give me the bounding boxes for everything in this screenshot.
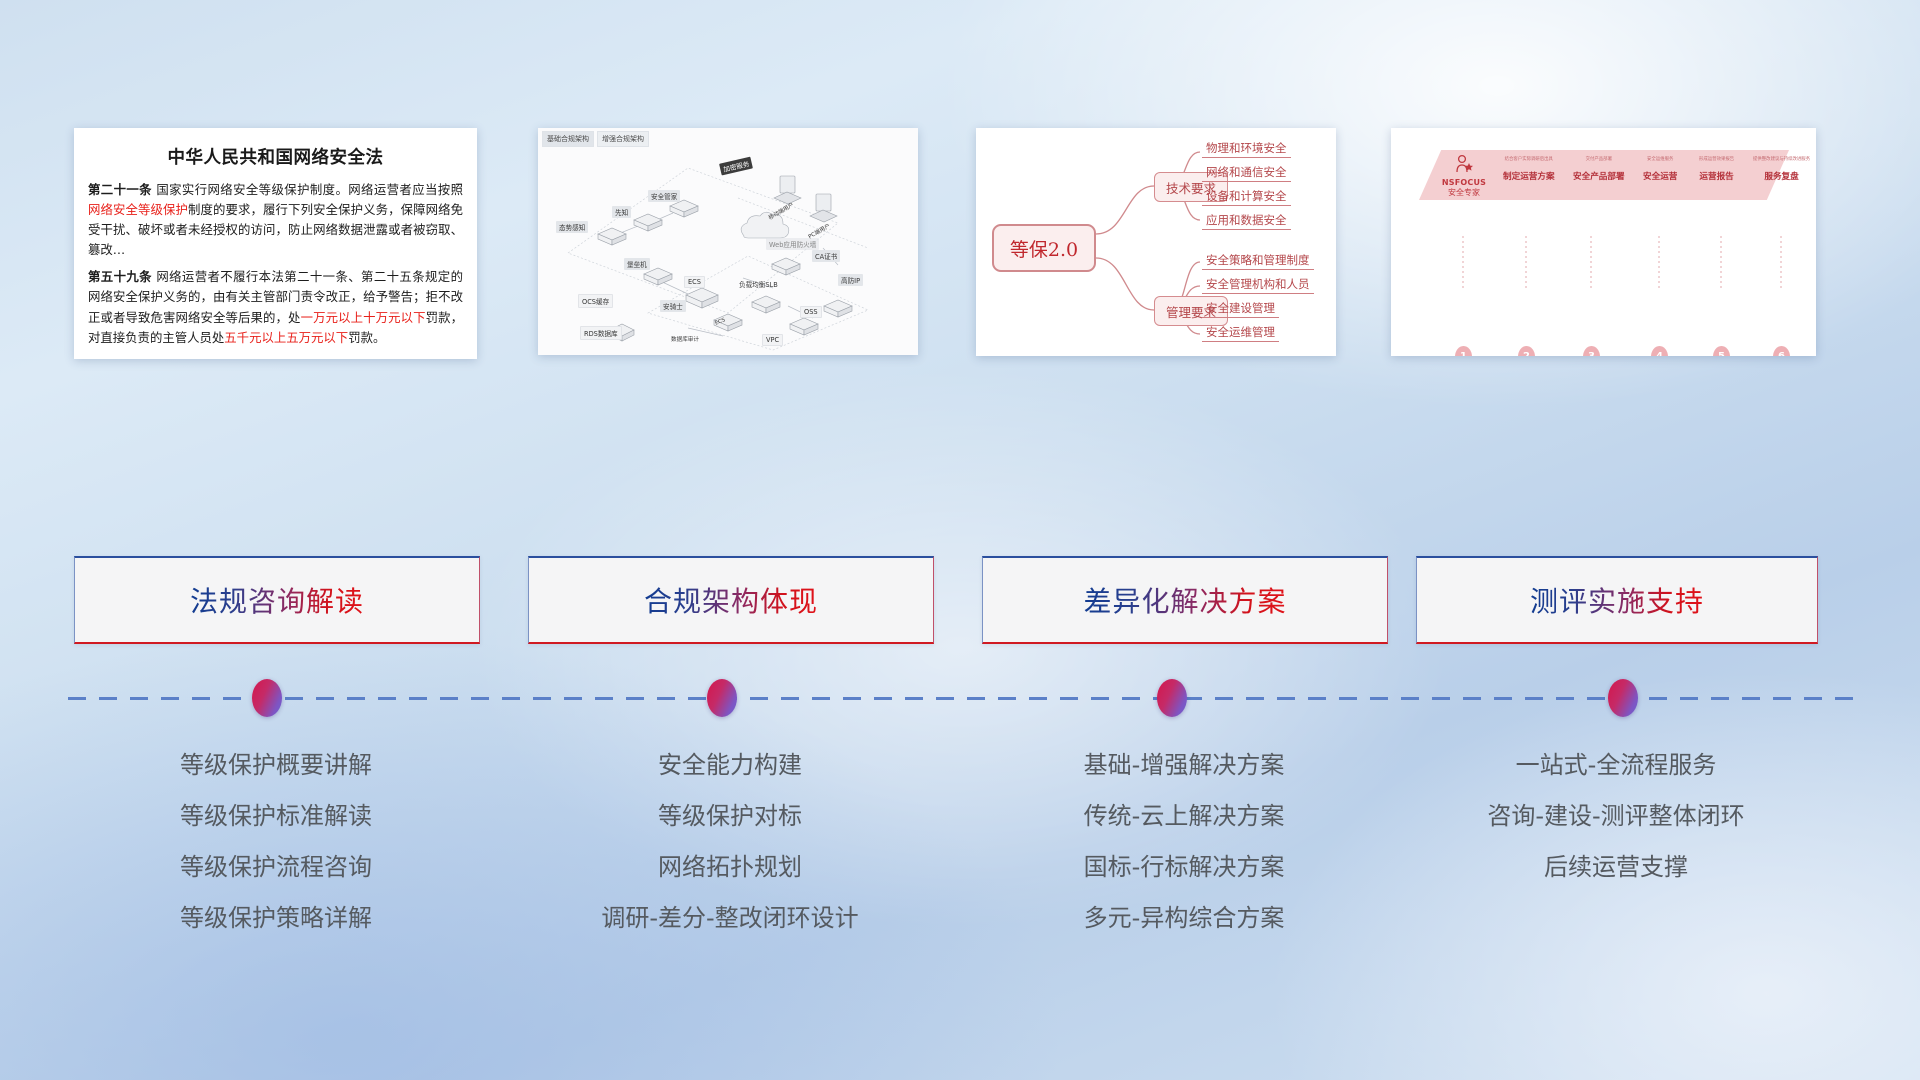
reference-cards-strip: 中华人民共和国网络安全法 第二十一条 国家实行网络安全等级保护制度。网络运营者应… (0, 128, 1920, 363)
section-heading-box-2[interactable]: 合规架构体现 (528, 556, 934, 644)
list-item: 网络拓扑规划 (528, 842, 932, 893)
law-article-59-highlight-2: 五千元以上五万元以下 (224, 330, 348, 345)
nsfocus-expert-name: NSFOCUS (1431, 178, 1497, 187)
nsfocus-upper-step-1-title: 制定运营方案 (1503, 172, 1555, 182)
node-label-slb: 负载均衡SLB (736, 278, 781, 290)
node-label-anti-ddos-ip: 高防IP (838, 274, 863, 286)
list-item: 等级保护概要讲解 (74, 740, 478, 791)
nsfocus-upper-step-5-title: 服务复盘 (1764, 172, 1798, 182)
nsfocus-upper-step-4: 形成运营效果报告 运营报告 (1699, 156, 1734, 183)
section-heading-box-3[interactable]: 差异化解决方案 (982, 556, 1388, 644)
law-article-21: 第二十一条 国家实行网络安全等级保护制度。网络运营者应当按照网络安全等级保护制度… (88, 180, 463, 260)
nsfocus-upper-step-5: 提供整改建议与持续改进服务 服务复盘 (1753, 156, 1810, 183)
mindmap: 等保2.0 技术要求 物理和环境安全 网络和通信安全 设备和计算安全 应用和数据… (976, 128, 1336, 356)
node-label-situational-awareness: 态势感知 (556, 221, 588, 233)
detail-column-2: 安全能力构建 等级保护对标 网络拓扑规划 调研-差分-整改闭环设计 (528, 740, 932, 944)
nsfocus-upper-step-4-caption: 形成运营效果报告 (1699, 156, 1734, 162)
law-article-59-post: 罚款。 (348, 330, 385, 345)
node-label-aegis: 安骑士 (660, 300, 686, 312)
detail-column-3: 基础-增强解决方案 传统-云上解决方案 国标-行标解决方案 多元-异构综合方案 (982, 740, 1386, 944)
nsfocus-upper-step-3-title: 安全运营 (1643, 172, 1677, 182)
list-item: 咨询-建设-测评整体闭环 (1416, 791, 1816, 842)
nsfocus-upper-step-2: 交付产品部署 安全产品部署 (1573, 156, 1625, 183)
law-article-59-highlight-1: 一万元以上十万元以下 (301, 310, 426, 325)
node-label-security-steward: 安全管家 (648, 190, 680, 202)
law-article-59: 第五十九条 网络运营者不履行本法第二十一条、第二十五条规定的网络安全保护义务的，… (88, 267, 463, 347)
node-label-rds-database: RDS数据库 (580, 326, 622, 340)
law-document: 中华人民共和国网络安全法 第二十一条 国家实行网络安全等级保护制度。网络运营者应… (74, 128, 477, 359)
mindmap-leaf-device-compute-security: 设备和计算安全 (1202, 188, 1291, 206)
list-item: 国标-行标解决方案 (982, 842, 1386, 893)
mindmap-root: 等保2.0 (992, 224, 1096, 272)
node-label-oss: OSS (800, 306, 822, 318)
law-article-21-pre: 国家实行网络安全等级保护制度。网络运营者应当按照 (152, 182, 463, 197)
list-item: 等级保护策略详解 (74, 893, 478, 944)
section-headings: 法规咨询解读 合规架构体现 差异化解决方案 测评实施支持 (0, 556, 1920, 646)
nsfocus-upper-step-2-title: 安全产品部署 (1573, 172, 1625, 182)
nsfocus-upper-step-2-caption: 交付产品部署 (1573, 156, 1625, 162)
nsfocus-expert-block: NSFOCUS 安全专家 (1431, 154, 1497, 198)
mindmap-leaf-ops-mgmt: 安全运维管理 (1202, 324, 1279, 342)
list-item: 等级保护标准解读 (74, 791, 478, 842)
card-mindmap-dengbao: 等保2.0 技术要求 物理和环境安全 网络和通信安全 设备和计算安全 应用和数据… (976, 128, 1336, 356)
section-heading-box-4[interactable]: 测评实施支持 (1416, 556, 1818, 644)
section-heading-box-1[interactable]: 法规咨询解读 (74, 556, 480, 644)
timeline-dashed-line (68, 697, 1858, 700)
card-nsfocus-timeline: NSFOCUS 安全专家 结合客户实际调研后出具 制定运营方案 交付产品部署 安… (1391, 128, 1816, 356)
section-heading-1: 法规咨询解读 (190, 580, 364, 620)
law-title: 中华人民共和国网络安全法 (88, 144, 463, 169)
mindmap-leaf-app-data-security: 应用和数据安全 (1202, 212, 1291, 230)
card-cloud-architecture: 基础合规架构 增强合规架构 (538, 128, 918, 355)
list-item: 安全能力构建 (528, 740, 932, 791)
nsfocus-expert-sub: 安全专家 (1431, 187, 1497, 198)
node-label-ecs: ECS (684, 276, 705, 288)
nsfocus-upper-step-5-caption: 提供整改建议与持续改进服务 (1753, 156, 1810, 162)
list-item: 等级保护对标 (528, 791, 932, 842)
nsfocus-timeline: NSFOCUS 安全专家 结合客户实际调研后出具 制定运营方案 交付产品部署 安… (1391, 128, 1816, 356)
list-item: 传统-云上解决方案 (982, 791, 1386, 842)
nsfocus-upper-step-1-caption: 结合客户实际调研后出具 (1503, 156, 1555, 162)
law-article-21-label: 第二十一条 (88, 182, 152, 197)
section-heading-3: 差异化解决方案 (1083, 580, 1286, 620)
mindmap-leaf-construction-mgmt: 安全建设管理 (1202, 300, 1279, 318)
detail-column-1: 等级保护概要讲解 等级保护标准解读 等级保护流程咨询 等级保护策略详解 (74, 740, 478, 944)
cloud-architecture-diagram: 基础合规架构 增强合规架构 (538, 128, 918, 355)
card-cybersecurity-law: 中华人民共和国网络安全法 第二十一条 国家实行网络安全等级保护制度。网络运营者应… (74, 128, 477, 359)
node-label-bastion-host: 堡垒机 (624, 258, 650, 270)
mindmap-leaf-org-personnel: 安全管理机构和人员 (1202, 276, 1314, 294)
nsfocus-upper-step-3: 安全运维服务 安全运营 (1643, 156, 1677, 183)
nsfocus-dashed-leaders (1391, 236, 1816, 356)
node-label-ca-certificate: CA证书 (812, 250, 840, 262)
detail-column-4: 一站式-全流程服务 咨询-建设-测评整体闭环 后续运营支撑 (1416, 740, 1816, 893)
list-item: 调研-差分-整改闭环设计 (528, 893, 932, 944)
mindmap-leaf-physical-env-security: 物理和环境安全 (1202, 140, 1291, 158)
timeline-dot-3 (1157, 679, 1187, 717)
section-heading-2: 合规架构体现 (644, 580, 818, 620)
timeline-dot-1 (252, 679, 282, 717)
nsfocus-upper-step-3-caption: 安全运维服务 (1643, 156, 1677, 162)
node-label-vpc: VPC (762, 334, 783, 346)
nsfocus-upper-step-4-title: 运营报告 (1699, 172, 1733, 182)
timeline-dot-2 (707, 679, 737, 717)
list-item: 一站式-全流程服务 (1416, 740, 1816, 791)
mindmap-leaf-network-comm-security: 网络和通信安全 (1202, 164, 1291, 182)
node-label-ocs-cache: OCS缓存 (578, 294, 613, 308)
timeline-dot-4 (1608, 679, 1638, 717)
node-label-xianzhi: 先知 (612, 206, 631, 218)
node-label-db-audit: 数据库审计 (668, 334, 702, 344)
list-item: 基础-增强解决方案 (982, 740, 1386, 791)
mindmap-leaf-policy-system: 安全策略和管理制度 (1202, 252, 1314, 270)
section-heading-4: 测评实施支持 (1530, 580, 1704, 620)
expert-person-icon (1453, 154, 1475, 174)
list-item: 多元-异构综合方案 (982, 893, 1386, 944)
nsfocus-upper-step-1: 结合客户实际调研后出具 制定运营方案 (1503, 156, 1555, 183)
law-article-59-label: 第五十九条 (88, 269, 152, 284)
law-article-21-highlight: 网络安全等级保护 (88, 202, 188, 217)
list-item: 等级保护流程咨询 (74, 842, 478, 893)
list-item: 后续运营支撑 (1416, 842, 1816, 893)
